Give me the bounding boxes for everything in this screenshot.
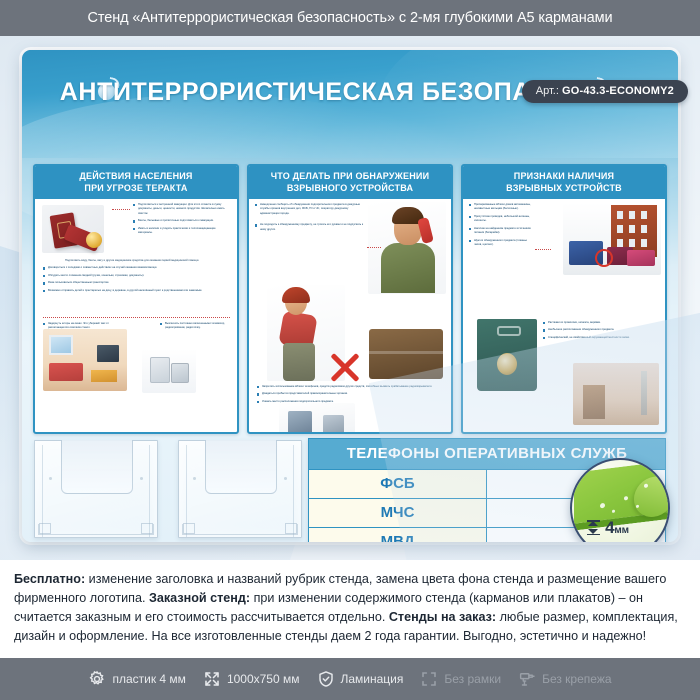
material-thickness-badge: 4мм [570, 458, 670, 542]
poster-title-line-2: ВЗРЫВНЫХ УСТРОЙСТВ [467, 183, 661, 195]
basement-photo [573, 363, 659, 425]
bullet-item: Подготовить воду, бинты, вату и другие м… [43, 259, 230, 263]
gear-icon [88, 670, 106, 688]
stand-header-band: АНТИТЕРРОРИСТИЧЕСКАЯ БЕЗОПАСНОСТЬ [22, 50, 678, 158]
poster-title-line-1: ДЕЙСТВИЯ НАСЕЛЕНИЯ [39, 171, 233, 183]
bullet-item: Наличие на найденном предмете источников… [469, 227, 535, 236]
bullet-item: Иметь в наличии и уходить практически и … [133, 227, 229, 236]
bullet-item: Обсудить место сложения сводкой (ручки, … [43, 274, 230, 278]
radio-equipment-photo [279, 403, 355, 434]
poster-header: ДЕЙСТВИЯ НАСЕЛЕНИЯ ПРИ УГРОЗЕ ТЕРАКТА [35, 166, 237, 199]
poster-body: Подготовиться к экстренной эвакуации. Дл… [35, 199, 237, 434]
desc-label-custom: Заказной стенд: [149, 591, 250, 605]
bullet-list-bottom-right: Выключить постоянно включенными телевизо… [160, 322, 230, 334]
bullet-item: Дождаться прибытия представителей правоо… [257, 392, 444, 396]
desc-label-order: Стенды на заказ: [389, 610, 496, 624]
poster-explosive-signs: ПРИЗНАКИ НАЛИЧИЯ ВЗРЫВНЫХ УСТРОЙСТВ Прип… [461, 164, 667, 434]
product-description: Бесплатно: изменение заголовка и названи… [0, 560, 700, 658]
poster-row: ДЕЙСТВИЯ НАСЕЛЕНИЯ ПРИ УГРОЗЕ ТЕРАКТА По… [33, 164, 667, 434]
poster-header: ЧТО ДЕЛАТЬ ПРИ ОБНАРУЖЕНИИ ВЗРЫВНОГО УСТ… [249, 166, 451, 199]
bullet-item: Не подходить к обнаруженному предмету, н… [255, 223, 367, 232]
bullet-item: Договориться с соседями о совместных дей… [43, 266, 230, 270]
article-value: GO-43.3-ECONOMY2 [562, 85, 674, 97]
parked-cars-photo [563, 203, 661, 275]
spec-frame-label: Без рамки [444, 672, 501, 686]
spec-mounting-label: Без крепежа [542, 672, 611, 686]
drill-icon [518, 670, 536, 688]
poster-header: ПРИЗНАКИ НАЛИЧИЯ ВЗРЫВНЫХ УСТРОЙСТВ [463, 166, 665, 199]
man-with-phone-photo [368, 202, 446, 294]
poster-title-line-2: ПРИ УГРОЗЕ ТЕРАКТА [39, 183, 233, 195]
poster-title-line-2: ВЗРЫВНОГО УСТРОЙСТВА [253, 183, 447, 195]
bullet-item: Необычное расположение обнаруженного пре… [543, 328, 653, 332]
bullet-item: Запретить использование вблизи телефонов… [257, 385, 444, 389]
spec-dimensions-label: 1000x750 мм [227, 672, 300, 686]
desc-label-free: Бесплатно: [14, 572, 85, 586]
poster-title-line-1: ЧТО ДЕЛАТЬ ПРИ ОБНАРУЖЕНИИ [253, 171, 447, 183]
bullet-list-top: Припаркованные вблизи домов автомашины, … [469, 203, 535, 251]
divider-dash [43, 317, 230, 318]
bullet-item: Бинты, бельевые и пропиточные подготовит… [133, 219, 229, 223]
spec-footer: пластик 4 мм 1000x750 мм Ламинация [0, 658, 700, 700]
frame-icon [420, 670, 438, 688]
deep-a5-pocket [34, 440, 158, 538]
information-stand: АНТИТЕРРОРИСТИЧЕСКАЯ БЕЗОПАСНОСТЬ ДЕЙСТВ… [22, 50, 678, 542]
bullet-item: Подготовиться к экстренной эвакуации. Дл… [133, 203, 229, 216]
article-badge: Арт.: GO-43.3-ECONOMY2 [522, 80, 688, 103]
bullet-item: Специфический, не свойственный окружающе… [543, 336, 653, 340]
bullet-item: Возможно отправить детей и престарелых н… [43, 289, 230, 293]
product-preview-canvas: Арт.: GO-43.3-ECONOMY2 АНТИТЕРРОРИСТИЧЕС… [0, 36, 700, 560]
spec-mounting: Без крепежа [518, 670, 611, 688]
page-title: Стенд «Антитеррористическая безопасность… [88, 10, 613, 26]
expand-icon [203, 670, 221, 688]
bullet-list-bottom: Растяжки из проволоки, шпагата, верёвки.… [543, 321, 653, 343]
table-cell-service: ФСБ [309, 470, 487, 498]
highlight-circle [595, 249, 613, 267]
poster-body: Немедленно сообщить об обнаружении подоз… [249, 199, 451, 434]
spec-lamination-label: Ламинация [341, 672, 404, 686]
spec-lamination: Ламинация [317, 670, 404, 688]
bullet-item: Припаркованные вблизи домов автомашины, … [469, 203, 535, 212]
bullet-list-middle: Подготовить воду, бинты, вату и другие м… [43, 259, 230, 296]
documents-photo [42, 205, 104, 253]
bullet-item: Присутствие проводов, небольшой антенны,… [469, 215, 535, 224]
spec-material: пластик 4 мм [88, 670, 185, 688]
table-cell-service: МЧС [309, 499, 487, 527]
pocket-group [34, 440, 304, 538]
product-preview-page: Стенд «Антитеррористическая безопасность… [0, 0, 700, 700]
bullet-item: Выключить постоянно включенными телевизо… [160, 322, 230, 331]
poster-explosive-found: ЧТО ДЕЛАТЬ ПРИ ОБНАРУЖЕНИИ ВЗРЫВНОГО УСТ… [247, 164, 453, 434]
spec-dimensions: 1000x750 мм [203, 670, 300, 688]
thickness-value: 4мм [572, 518, 662, 538]
page-title-bar: Стенд «Антитеррористическая безопасность… [0, 0, 700, 36]
spec-frame: Без рамки [420, 670, 501, 688]
bullet-item: Растяжки из проволоки, шпагата, верёвки. [543, 321, 653, 325]
apartment-photo [43, 329, 127, 391]
bullet-item: Реже пользоваться общественным транспорт… [43, 281, 230, 285]
connector-dash [367, 247, 381, 248]
spec-material-label: пластик 4 мм [112, 672, 185, 686]
bullet-item: Шум из обнаруженного предмета (тиканье ч… [469, 239, 535, 248]
bullet-list-top: Подготовиться к экстренной эвакуации. Дл… [133, 203, 229, 239]
connector-dash [112, 209, 130, 210]
deep-a5-pocket [178, 440, 302, 538]
poster-title-line-1: ПРИЗНАКИ НАЛИЧИЯ [467, 171, 661, 183]
prohibition-cross-icon [327, 349, 363, 385]
shield-check-icon [317, 670, 335, 688]
connector-dash [535, 249, 551, 250]
suspicious-case-photo [369, 329, 443, 379]
abandoned-bag-photo [477, 319, 537, 391]
table-cell-service: МВД [309, 528, 487, 542]
bullet-item: Немедленно сообщить об обнаружении подоз… [255, 203, 367, 216]
poster-population-actions: ДЕЙСТВИЯ НАСЕЛЕНИЯ ПРИ УГРОЗЕ ТЕРАКТА По… [33, 164, 239, 434]
bullet-list-top: Немедленно сообщить об обнаружении подоз… [255, 203, 367, 235]
poster-body: Припаркованные вблизи домов автомашины, … [463, 199, 665, 434]
electronics-photo [142, 349, 196, 393]
article-label: Арт.: [536, 85, 559, 97]
